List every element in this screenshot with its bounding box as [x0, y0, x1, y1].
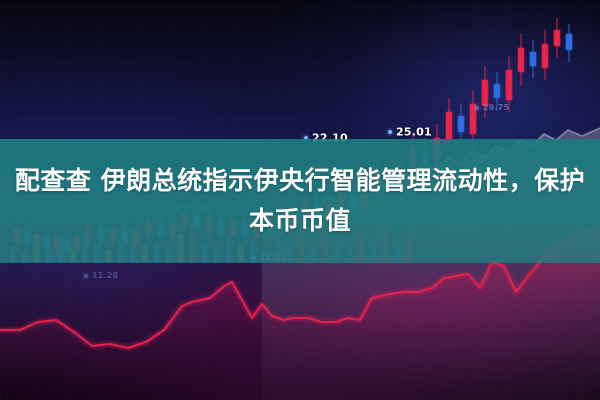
- price-label: 25.01: [388, 125, 432, 139]
- price-label-text: 11.28: [92, 271, 118, 280]
- price-marker-dot: [84, 274, 88, 278]
- price-label-text: 25.01: [396, 126, 432, 139]
- headline: 配查查 伊朗总统指示伊央行智能管理流动性，保护本币币值: [0, 139, 600, 263]
- price-label-text: 29.75: [483, 103, 509, 112]
- news-banner-image: 10.0722.1025.0129.7518.7511.28 配查查 伊朗总统指…: [0, 0, 600, 400]
- price-marker-dot: [475, 106, 479, 110]
- price-label: 11.28: [84, 271, 118, 280]
- price-label: 29.75: [475, 103, 509, 112]
- price-marker-dot: [388, 130, 392, 134]
- headline-full-text: 配查查 伊朗总统指示伊央行智能管理流动性，保护本币币值: [12, 161, 588, 241]
